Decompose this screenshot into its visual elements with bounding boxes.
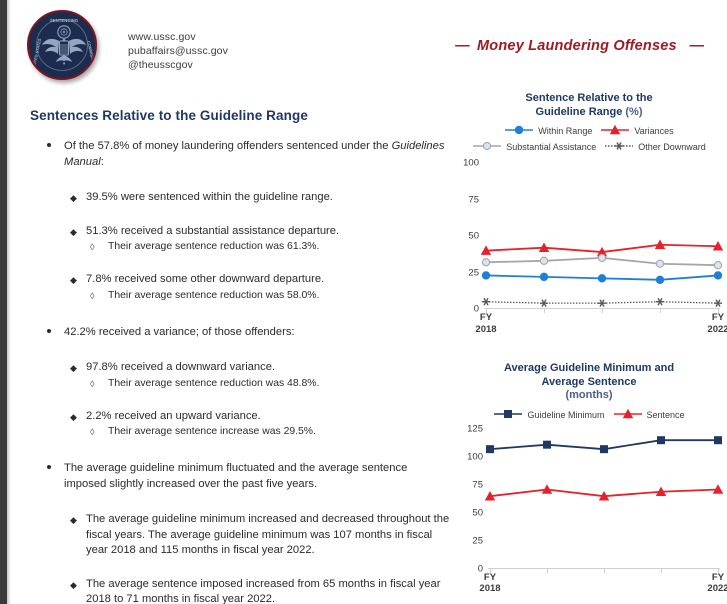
list-item: ◆ The average guideline minimum increase… <box>30 512 450 559</box>
y-axis-tick-label: 25 <box>472 535 483 546</box>
data-point-marker <box>543 440 551 448</box>
bullet-lozenge-icon: ◊ <box>90 289 94 303</box>
left-edge-strip <box>0 0 7 604</box>
chart1-title-unit: (%) <box>625 106 642 118</box>
list-item: Of the 57.8% of money laundering offende… <box>30 139 450 170</box>
ussc-seal-icon: SENTENCING UNITED STATES COMMISSION <box>27 10 99 82</box>
legend-symbol-asterisk-icon <box>604 140 634 154</box>
list-item: ◆ The average sentence imposed increased… <box>30 577 450 604</box>
chart-series-svg <box>488 429 720 571</box>
list-item: ◆ 7.8% received some other downward depa… <box>30 272 450 303</box>
chart1-title-line1: Sentence Relative to the <box>458 92 720 106</box>
legend-label: Substantial Assistance <box>506 142 596 152</box>
chart-average-guideline-minimum-and-sentence: Average Guideline Minimum and Average Se… <box>458 362 720 595</box>
chart2-x-labels: FY2018FY2022 <box>488 569 720 595</box>
data-point-marker <box>656 276 664 284</box>
x-axis-tick-label: FY2022 <box>707 572 727 595</box>
bullet-diamond-icon: ◆ <box>70 579 77 591</box>
list-item: ◆ 2.2% received an upward variance. ◊ Th… <box>30 409 450 440</box>
legend-item[interactable]: Substantial Assistance <box>472 140 596 154</box>
list-item: ◆ 97.8% received a downward variance. ◊ … <box>30 360 450 391</box>
y-axis-tick-label: 125 <box>467 423 483 434</box>
legend-item[interactable]: Guideline Minimum <box>493 408 604 422</box>
chart2-title-line2: Average Sentence <box>458 376 720 390</box>
left-edge-shadow <box>7 0 11 604</box>
legend-label: Other Downward <box>638 142 706 152</box>
y-axis-tick-label: 75 <box>468 194 479 205</box>
chart2-title-line1: Average Guideline Minimum and <box>458 362 720 376</box>
list-item: ◆ 51.3% received a substantial assistanc… <box>30 224 450 255</box>
sub-list-item: ◊ Their average sentence increase was 29… <box>86 425 450 439</box>
svg-text:SENTENCING: SENTENCING <box>50 18 79 23</box>
bullet-text: 7.8% received some other downward depart… <box>86 273 324 285</box>
page-title-text: Money Laundering Offenses <box>477 38 677 54</box>
bullet-diamond-icon: ◆ <box>70 226 77 238</box>
data-point-marker <box>540 300 548 307</box>
chart1-x-labels: FY2018FY2022 <box>484 309 720 335</box>
bullet-diamond-icon: ◆ <box>70 192 77 204</box>
sub-list-item: ◊ Their average sentence reduction was 5… <box>86 289 450 303</box>
legend-item[interactable]: Variances <box>600 124 673 138</box>
bullet-text: 2.2% received an upward variance. <box>86 410 261 422</box>
contact-website[interactable]: www.ussc.gov <box>128 30 228 44</box>
legend-item[interactable]: Within Range <box>504 124 592 138</box>
data-point-marker <box>486 445 494 453</box>
chart1-title-line2: Guideline Range <box>536 106 623 118</box>
x-axis-tick-label: FY2018 <box>475 312 496 335</box>
bullet-dot-icon <box>47 465 51 469</box>
bullet-diamond-icon: ◆ <box>70 411 77 423</box>
bullet-text: 39.5% were sentenced within the guidelin… <box>86 191 333 203</box>
data-point-marker <box>714 300 722 307</box>
data-point-marker <box>656 260 663 267</box>
chart-sentence-relative-to-guideline-range: Sentence Relative to the Guideline Range… <box>458 92 720 335</box>
contact-email[interactable]: pubaffairs@ussc.gov <box>128 44 228 58</box>
chart-series-svg <box>484 163 720 311</box>
y-axis-tick-label: 100 <box>463 158 479 169</box>
data-point-marker <box>656 298 664 305</box>
bullet-dot-icon <box>47 329 51 333</box>
legend-label: Within Range <box>538 126 592 136</box>
data-point-marker <box>482 259 489 266</box>
legend-item[interactable]: Other Downward <box>604 140 706 154</box>
chart2-title-unit: (months) <box>458 389 720 403</box>
bullet-text: 51.3% received a substantial assistance … <box>86 225 339 237</box>
legend-label: Guideline Minimum <box>527 410 604 420</box>
sub-list-item: ◊ Their average sentence reduction was 4… <box>86 377 450 391</box>
chart2-title: Average Guideline Minimum and Average Se… <box>458 362 720 403</box>
dash-right-icon: — <box>689 38 703 54</box>
data-point-marker <box>540 257 547 264</box>
bullet-dot-icon <box>47 143 51 147</box>
data-point-marker <box>598 254 605 261</box>
legend-label: Sentence <box>647 410 685 420</box>
data-point-marker <box>600 445 608 453</box>
legend-symbol-triangle-icon <box>613 408 643 422</box>
data-point-marker <box>482 298 490 305</box>
bullet-text: The average guideline minimum fluctuated… <box>64 462 407 490</box>
bullet-lozenge-icon: ◊ <box>90 377 94 391</box>
sub-bullet-text: Their average sentence reduction was 48.… <box>108 378 319 389</box>
chart1-title: Sentence Relative to the Guideline Range… <box>458 92 720 119</box>
y-axis-tick-label: 50 <box>472 507 483 518</box>
bullet-text: The average guideline minimum increased … <box>86 513 449 556</box>
x-axis-tick-label: FY2018 <box>479 572 500 595</box>
bullet-lozenge-icon: ◊ <box>90 425 94 439</box>
data-point-marker <box>714 436 722 444</box>
sub-list-item: ◊ Their average sentence reduction was 6… <box>86 240 450 254</box>
section-title: Sentences Relative to the Guideline Rang… <box>30 108 450 123</box>
bullet-text-post: : <box>101 156 104 168</box>
bullet-diamond-icon: ◆ <box>70 514 77 526</box>
data-point-marker <box>714 271 722 279</box>
bullet-lozenge-icon: ◊ <box>90 240 94 254</box>
bullet-diamond-icon: ◆ <box>70 274 77 286</box>
chart1-plot-area: 0255075100 <box>484 163 720 309</box>
slide-page: SENTENCING UNITED STATES COMMISSION www.… <box>0 0 727 604</box>
legend-symbol-triangle-icon <box>600 124 630 138</box>
svg-text:UNITED STATES: UNITED STATES <box>31 38 42 70</box>
chart2-legend: Guideline MinimumSentence <box>458 407 720 423</box>
data-point-marker <box>657 436 665 444</box>
sub-bullet-text: Their average sentence reduction was 61.… <box>108 241 319 252</box>
page-title: — Money Laundering Offenses — <box>439 38 719 54</box>
y-axis-tick-label: 100 <box>467 451 483 462</box>
contact-social[interactable]: @theusscgov <box>128 58 228 72</box>
y-axis-tick-label: 75 <box>472 479 483 490</box>
bullet-text: 97.8% received a downward variance. <box>86 361 275 373</box>
data-point-marker <box>598 300 606 307</box>
legend-item[interactable]: Sentence <box>613 408 685 422</box>
data-point-marker <box>598 274 606 282</box>
legend-symbol-circle-icon <box>504 124 534 138</box>
contact-info: www.ussc.gov pubaffairs@ussc.gov @theuss… <box>128 30 228 72</box>
x-axis-tick-label: FY2022 <box>707 312 727 335</box>
legend-symbol-circle-open-icon <box>472 140 502 154</box>
sub-bullet-text: Their average sentence reduction was 58.… <box>108 290 319 301</box>
seal-disc: SENTENCING UNITED STATES COMMISSION <box>27 10 97 80</box>
legend-symbol-square-icon <box>493 408 523 422</box>
data-point-marker <box>540 273 548 281</box>
bullet-diamond-icon: ◆ <box>70 362 77 374</box>
data-point-marker <box>714 262 721 269</box>
bullet-text: 42.2% received a variance; of those offe… <box>64 326 295 338</box>
chart2-plot-area: 0255075100125 <box>488 429 720 569</box>
list-item: The average guideline minimum fluctuated… <box>30 461 450 492</box>
legend-label: Variances <box>634 126 673 136</box>
seal-eagle-icon: SENTENCING UNITED STATES COMMISSION <box>29 12 97 80</box>
y-axis-tick-label: 25 <box>468 267 479 278</box>
sub-bullet-text: Their average sentence increase was 29.5… <box>108 426 316 437</box>
left-content-column: Sentences Relative to the Guideline Rang… <box>30 108 450 604</box>
chart1-legend: Within RangeVariancesSubstantial Assista… <box>458 123 720 155</box>
data-point-marker <box>482 271 490 279</box>
dash-left-icon: — <box>455 38 469 54</box>
list-item: 42.2% received a variance; of those offe… <box>30 325 450 341</box>
list-item: ◆ 39.5% were sentenced within the guidel… <box>30 190 450 206</box>
bullet-text: The average sentence imposed increased f… <box>86 578 440 604</box>
bullet-text-pre: Of the 57.8% of money laundering offende… <box>64 140 392 152</box>
y-axis-tick-label: 50 <box>468 231 479 242</box>
